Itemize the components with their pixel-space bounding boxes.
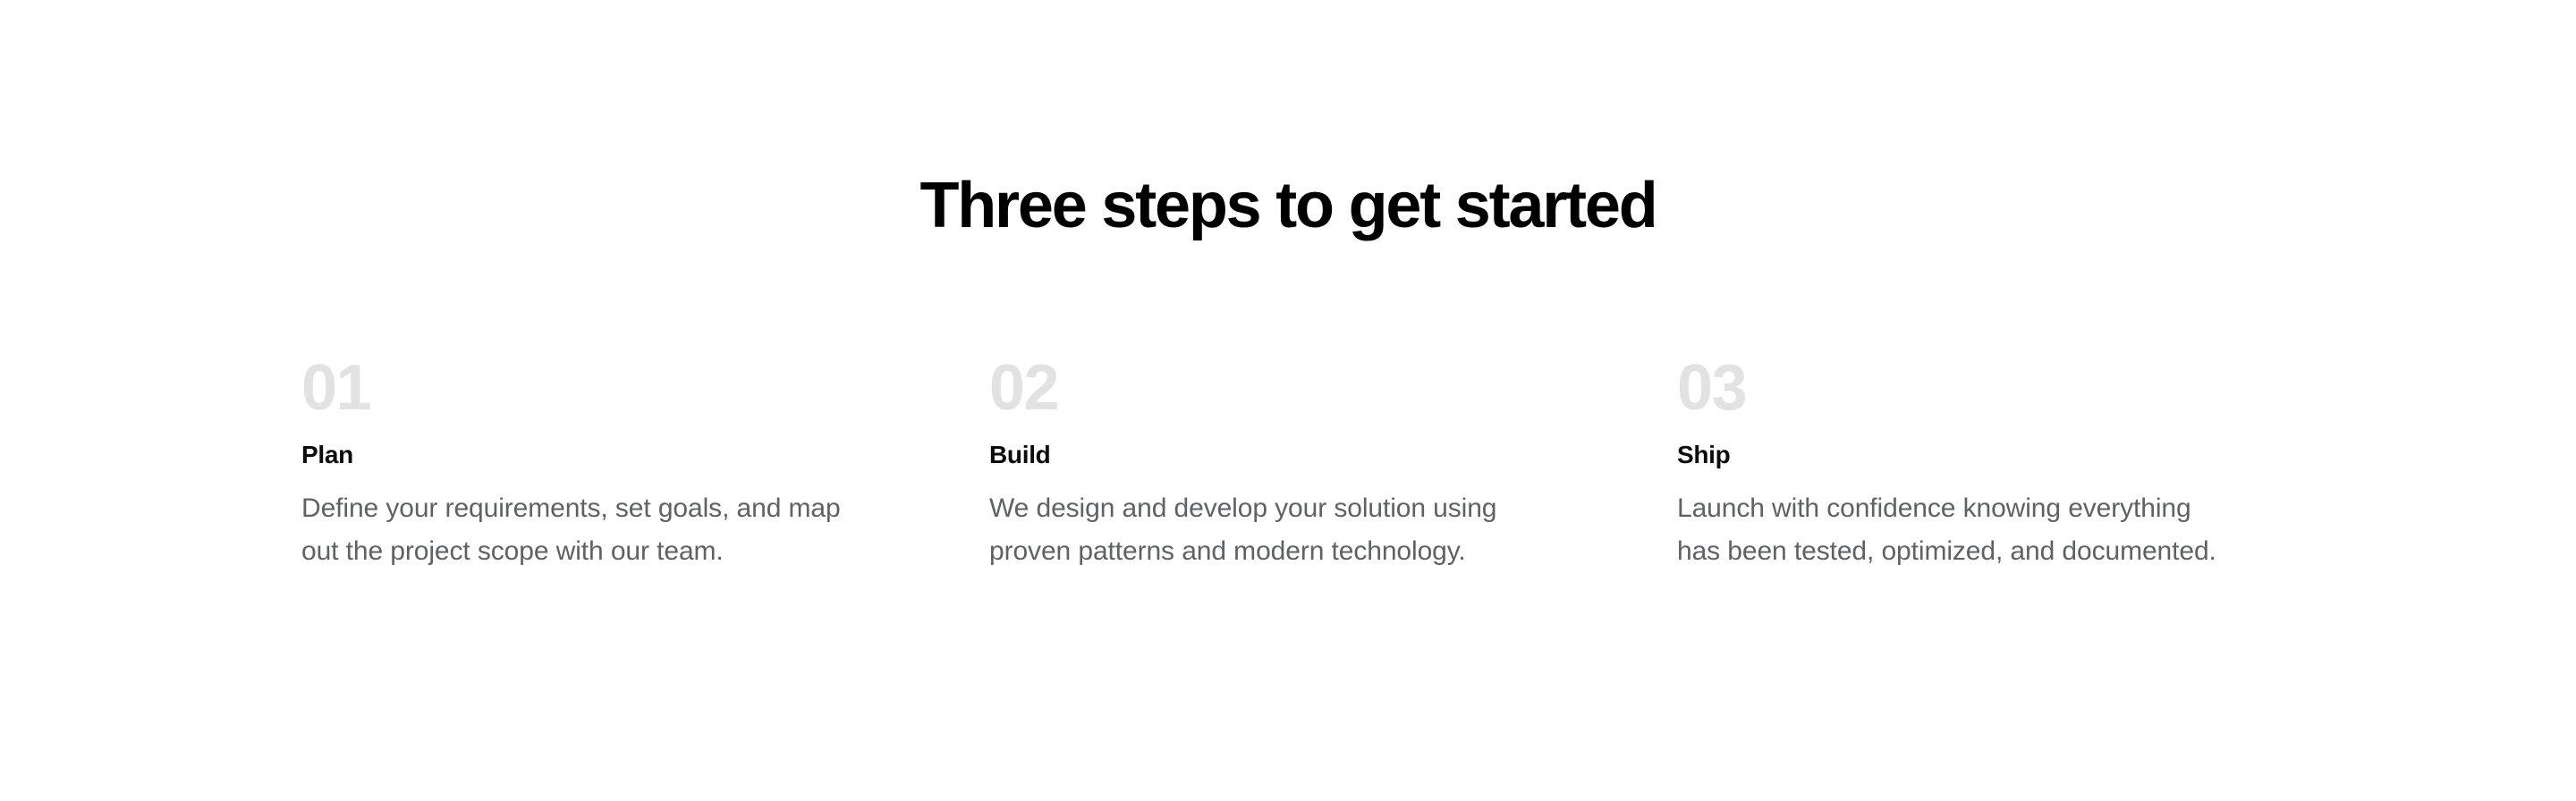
- section-heading: Three steps to get started: [0, 163, 2576, 249]
- step-item-ship: 03 Ship Launch with confidence knowing e…: [1677, 354, 2232, 573]
- step-number: 03: [1677, 354, 2232, 422]
- steps-section: Three steps to get started 01 Plan Defin…: [0, 0, 2576, 801]
- step-item-build: 02 Build We design and develop your solu…: [989, 354, 1544, 573]
- step-description: We design and develop your solution usin…: [989, 487, 1544, 573]
- steps-grid: 01 Plan Define your requirements, set go…: [301, 354, 2242, 573]
- step-number: 01: [301, 354, 856, 422]
- step-title: Plan: [301, 440, 856, 470]
- step-number: 02: [989, 354, 1544, 422]
- step-item-plan: 01 Plan Define your requirements, set go…: [301, 354, 856, 573]
- step-description: Launch with confidence knowing everythin…: [1677, 487, 2232, 573]
- step-title: Ship: [1677, 440, 2232, 470]
- step-description: Define your requirements, set goals, and…: [301, 487, 856, 573]
- step-title: Build: [989, 440, 1544, 470]
